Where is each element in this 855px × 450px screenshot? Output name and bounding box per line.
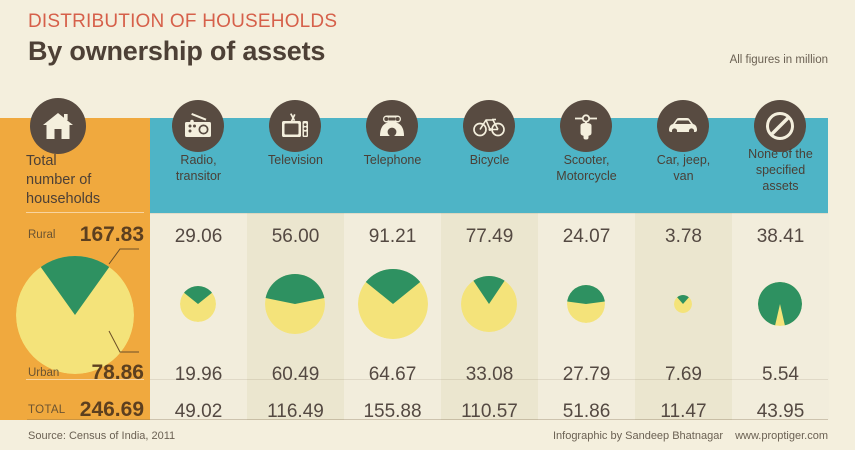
leader-line-urban [108,330,140,358]
urban-value-television: 60.49 [247,364,344,386]
column-header-none: None of the specified assets [732,146,829,194]
scooter-icon [560,100,612,152]
total-label-line3: households [26,190,144,209]
urban-value-none: 5.54 [732,364,829,386]
urban-value-car: 7.69 [635,364,732,386]
source-text: Source: Census of India, 2011 [28,430,175,442]
column-header-line2: transitor [150,168,247,184]
column-header-line2: van [635,168,732,184]
rural-value-none: 38.41 [732,226,829,248]
rural-value-scooter: 24.07 [538,226,635,248]
rural-row-label: Rural [28,229,55,241]
divider-assets-top [150,213,828,214]
column-header-line1: Car, jeep, [635,152,732,168]
urban-row-label: Urban [28,367,59,379]
column-header-line1: Television [247,152,344,168]
pie-telephone [358,269,428,339]
urban-value-radio: 19.96 [150,364,247,386]
column-header-line1: Telephone [344,152,441,168]
column-header-television: Television [247,152,344,168]
column-header-line2: specified [732,162,829,178]
urban-value-bicycle: 33.08 [441,364,538,386]
radio-icon [172,100,224,152]
column-header-scooter: Scooter, Motorcycle [538,152,635,184]
pie-none [758,282,802,326]
pie-car [674,295,692,313]
header-kicker: DISTRIBUTION OF HOUSEHOLDS [28,12,337,33]
bicycle-icon [463,100,515,152]
column-header-line1: Bicycle [441,152,538,168]
pie-bicycle [461,276,517,332]
divider-total-top [26,212,144,213]
column-header-line3: assets [732,178,829,194]
column-header-bicycle: Bicycle [441,152,538,168]
pie-scooter [567,285,605,323]
none-icon [754,100,806,152]
pie-television [265,274,325,334]
rural-value-car: 3.78 [635,226,732,248]
column-header-line1: Radio, [150,152,247,168]
rural-value-bicycle: 77.49 [441,226,538,248]
column-header-line2: Motorcycle [538,168,635,184]
credit-text: Infographic by Sandeep Bhatnagar [553,430,723,442]
column-header-radio: Radio, transitor [150,152,247,184]
header-block: DISTRIBUTION OF HOUSEHOLDS By ownership … [28,12,337,67]
column-header-line1: None of the [732,146,829,162]
column-header-car: Car, jeep, van [635,152,732,184]
footer-divider [27,419,828,420]
column-header-telephone: Telephone [344,152,441,168]
pie-radio [180,286,216,322]
urban-value-scooter: 27.79 [538,364,635,386]
urban-value-telephone: 64.67 [344,364,441,386]
television-icon [269,100,321,152]
rural-value-radio: 29.06 [150,226,247,248]
column-header-line1: Scooter, [538,152,635,168]
telephone-icon [366,100,418,152]
website-link[interactable]: www.proptiger.com [735,430,828,442]
rural-value-telephone: 91.21 [344,226,441,248]
total-label-line1: Total [26,152,144,171]
page-title: By ownership of assets [28,36,337,67]
urban-total-value: 78.86 [56,361,144,385]
infographic-root: DISTRIBUTION OF HOUSEHOLDS By ownership … [0,0,855,450]
rural-value-television: 56.00 [247,226,344,248]
figures-note: All figures in million [730,54,828,66]
total-panel-label: Total number of households [26,152,144,209]
car-icon [657,100,709,152]
total-label-line2: number of [26,171,144,190]
leader-line-rural [108,243,140,265]
home-icon [30,98,86,154]
